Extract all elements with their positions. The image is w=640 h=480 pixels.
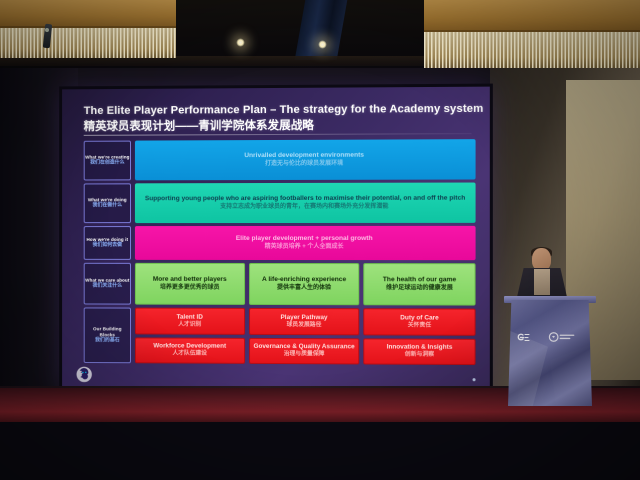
care-card-health: The health of our game 维护足球运动的健康发展: [364, 263, 476, 305]
row-bar-unrivalled-zh: 打造无与伦比的球员发展环境: [265, 160, 343, 168]
block-talent-id-zh: 人才识别: [178, 321, 201, 328]
row-bar-unrivalled-en: Unrivalled development environments: [244, 152, 364, 161]
premier-league-podium-logo-icon: [548, 331, 578, 343]
care-card-experience-en: A life-enriching experience: [262, 276, 346, 284]
care-card-health-zh: 维护足球运动的健康发展: [386, 285, 453, 292]
row-label-how-zh: 我们如何去做: [93, 243, 123, 249]
care-card-experience: A life-enriching experience 提供丰富人生的体验: [249, 263, 360, 305]
microphone-led: [45, 28, 49, 32]
podium-logo-group: [516, 330, 586, 344]
row-label-blocks-zh: 我们的基石: [95, 338, 120, 344]
care-card-players: More and better players 培养更多更优秀的球员: [135, 263, 245, 305]
speaker-shirt: [534, 269, 550, 295]
block-duty-of-care-zh: 关怀责任: [408, 322, 431, 329]
gfl-logo-icon: [516, 332, 540, 343]
row-bar-elite: Elite player development + personal grow…: [135, 226, 476, 260]
ceiling-downlight-1: [236, 38, 245, 47]
slide-row-care: What we care about 我们关注什么 More and bette…: [84, 263, 476, 306]
block-innovation-insights-zh: 创新与洞察: [405, 352, 434, 359]
building-blocks-row-bottom: Workforce Development 人才队伍建设 Governance …: [135, 337, 476, 365]
row-label-doing-zh: 我们在做什么: [93, 203, 123, 209]
block-talent-id: Talent ID 人才识别: [135, 308, 245, 335]
row-bar-supporting-en: Supporting young people who are aspiring…: [145, 195, 465, 204]
block-talent-id-en: Talent ID: [177, 314, 203, 322]
row-bar-unrivalled: Unrivalled development environments 打造无与…: [135, 139, 476, 180]
care-card-players-en: More and better players: [153, 276, 227, 284]
block-governance-quality-zh: 治理与质量保障: [284, 351, 325, 358]
presentation-room-photo: The Elite Player Performance Plan – The …: [0, 0, 640, 480]
slide-row-how: How we're doing it 我们如何去做 Elite player d…: [84, 226, 476, 260]
slide-row-building-blocks: Our Building Blocks 我们的基石 Talent ID 人才识别…: [84, 307, 476, 365]
slide-title-english: The Elite Player Performance Plan – The …: [84, 103, 476, 117]
slide-title-chinese: 精英球员表现计划——青训学院体系发展战略: [84, 116, 476, 134]
slide-row-creating: What we're creating 我们在创造什么 Unrivalled d…: [84, 139, 476, 180]
row-label-care-zh: 我们关注什么: [93, 284, 123, 290]
block-duty-of-care: Duty of Care 关怀责任: [364, 308, 476, 335]
block-innovation-insights-en: Innovation & Insights: [387, 344, 453, 352]
row-label-blocks: Our Building Blocks 我们的基石: [84, 307, 131, 363]
block-player-pathway: Player Pathway 球员发展路径: [249, 308, 360, 335]
row-bar-elite-zh: 精英球员培养 + 个人全面成长: [265, 244, 344, 252]
care-card-health-en: The health of our game: [383, 276, 456, 284]
care-card-experience-zh: 提供丰富人生的体验: [277, 285, 331, 292]
block-duty-of-care-en: Duty of Care: [400, 314, 438, 322]
chandelier-left: [0, 0, 176, 58]
care-card-group: More and better players 培养更多更优秀的球员 A lif…: [135, 263, 476, 306]
block-player-pathway-zh: 球员发展路径: [287, 322, 322, 329]
slide-title: The Elite Player Performance Plan – The …: [84, 103, 476, 134]
row-label-blocks-en: Our Building Blocks: [85, 326, 130, 337]
row-label-care: What we care about 我们关注什么: [84, 263, 131, 305]
row-bar-supporting-zh: 支持立志成为职业球员的青年，在赛场内和赛场外充分发挥潜能: [220, 203, 388, 211]
building-blocks-row-top: Talent ID 人才识别 Player Pathway 球员发展路径 Dut…: [135, 308, 476, 336]
audience: [0, 378, 640, 480]
slide-grid: What we're creating 我们在创造什么 Unrivalled d…: [84, 139, 476, 365]
ceiling-downlight-2: [318, 40, 327, 49]
slide-row-doing: What we're doing 我们在做什么 Supporting young…: [84, 183, 476, 224]
row-label-doing: What we're doing 我们在做什么: [84, 183, 131, 223]
row-label-creating-zh: 我们在创造什么: [90, 161, 124, 167]
block-governance-quality: Governance & Quality Assurance 治理与质量保障: [249, 337, 360, 364]
block-workforce-development-zh: 人才队伍建设: [172, 351, 207, 358]
block-workforce-development: Workforce Development 人才队伍建设: [135, 337, 245, 364]
projection-screen: The Elite Player Performance Plan – The …: [62, 87, 490, 392]
row-bar-supporting: Supporting young people who are aspiring…: [135, 183, 476, 224]
speaker-head: [532, 248, 551, 271]
building-blocks-grid: Talent ID 人才识别 Player Pathway 球员发展路径 Dut…: [135, 308, 476, 365]
care-card-players-zh: 培养更多更优秀的球员: [160, 284, 220, 291]
row-label-creating: What we're creating 我们在创造什么: [84, 141, 131, 181]
block-player-pathway-en: Player Pathway: [281, 314, 328, 322]
block-innovation-insights: Innovation & Insights 创新与洞察: [364, 338, 476, 365]
row-bar-elite-en: Elite player development + personal grow…: [236, 235, 373, 243]
row-label-how: How we're doing it 我们如何去做: [84, 226, 131, 260]
chandelier-right: [424, 0, 640, 68]
slide-content: The Elite Player Performance Plan – The …: [62, 87, 490, 392]
block-governance-quality-en: Governance & Quality Assurance: [254, 343, 355, 351]
block-workforce-development-en: Workforce Development: [153, 343, 226, 351]
